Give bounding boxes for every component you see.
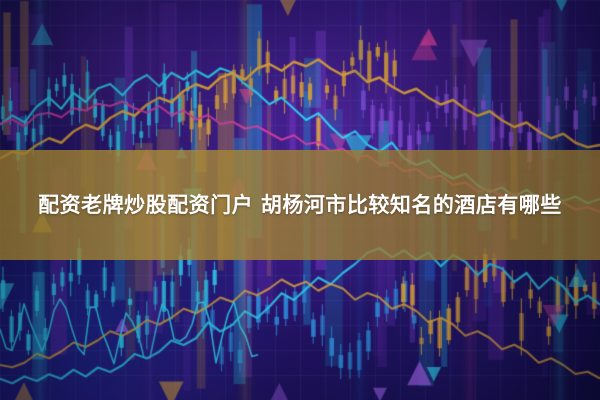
banner-title: 配资老牌炒股配资门户 胡杨河市比较知名的酒店有哪些 [14,187,586,223]
image-canvas: 配资老牌炒股配资门户 胡杨河市比较知名的酒店有哪些 [0,0,600,400]
title-banner: 配资老牌炒股配资门户 胡杨河市比较知名的酒店有哪些 [0,150,600,260]
